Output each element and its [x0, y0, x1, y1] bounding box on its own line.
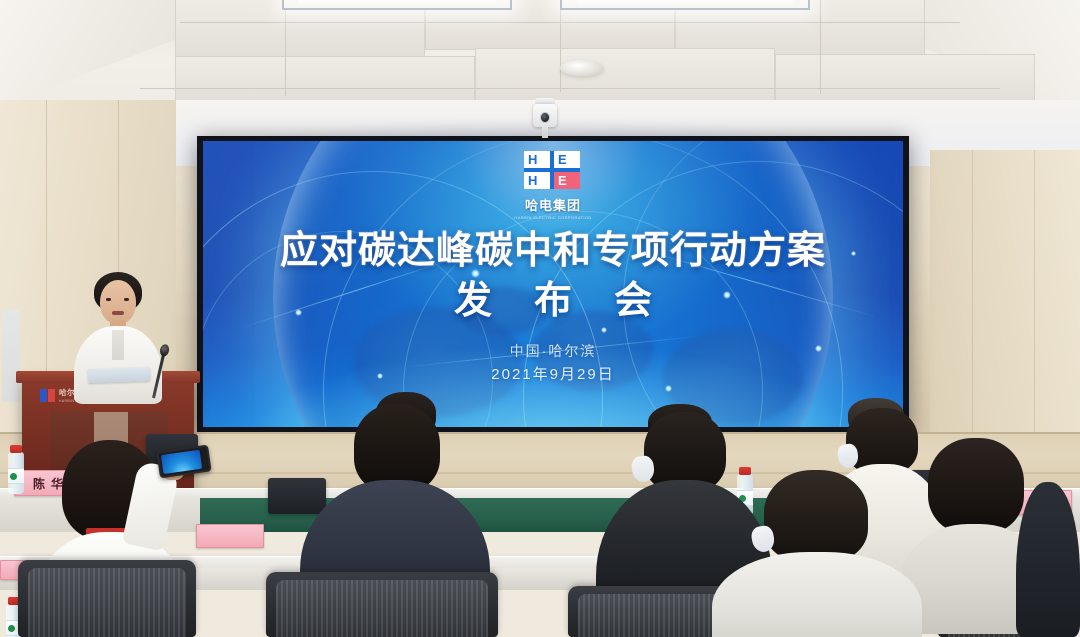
- slide-place: 中国·哈尔滨: [203, 341, 903, 361]
- logo-company-name-cn: 哈电集团: [505, 195, 601, 214]
- conference-hall-scene: H E H E 哈电集团 HARBIN ELECTRIC CORPORATION…: [0, 0, 1080, 637]
- ceiling-light-fixture: [282, 0, 512, 10]
- harbin-electric-logo: H E H E 哈电集团 HARBIN ELECTRIC CORPORATION: [505, 151, 601, 220]
- name-card: [196, 524, 264, 548]
- slide-subtitle: 发布会: [203, 269, 903, 324]
- ceiling-panel: [775, 54, 1035, 102]
- logo-letter: H: [528, 151, 537, 168]
- water-bottle: [8, 452, 24, 494]
- ceiling-grid-line: [180, 22, 960, 23]
- slide-title: 应对碳达峰碳中和专项行动方案: [203, 219, 903, 274]
- ceiling-panel: [475, 48, 775, 102]
- ceiling-panel: [175, 56, 475, 102]
- ceiling-grid-line: [560, 0, 561, 92]
- speech-papers: [88, 367, 150, 383]
- chair: [266, 572, 498, 637]
- logo-mark-icon: H E H E: [524, 151, 582, 191]
- smoke-detector: [560, 60, 604, 76]
- slide-date: 2021年9月29日: [203, 363, 903, 384]
- logo-letter: E: [558, 151, 567, 168]
- audience-person: [1016, 452, 1080, 637]
- logo-letter: H: [528, 172, 537, 189]
- ceiling-light-fixture: [560, 0, 810, 10]
- ceiling-left-soffit: [0, 0, 175, 106]
- ceiling-grid-line: [285, 0, 286, 96]
- led-display: H E H E 哈电集团 HARBIN ELECTRIC CORPORATION…: [197, 136, 909, 432]
- speaker-person: [72, 272, 164, 402]
- ptz-camera-icon: [532, 98, 558, 138]
- audience-person: [712, 470, 922, 637]
- wall-panel: [2, 310, 20, 402]
- presentation-slide: H E H E 哈电集团 HARBIN ELECTRIC CORPORATION…: [203, 141, 903, 427]
- ceiling: [0, 0, 1080, 106]
- chair: [18, 560, 196, 637]
- ceiling-grid-line: [820, 0, 821, 94]
- ceiling-grid-line: [140, 88, 1000, 89]
- logo-letter: E: [558, 172, 567, 189]
- podium-logo-icon: [40, 389, 55, 402]
